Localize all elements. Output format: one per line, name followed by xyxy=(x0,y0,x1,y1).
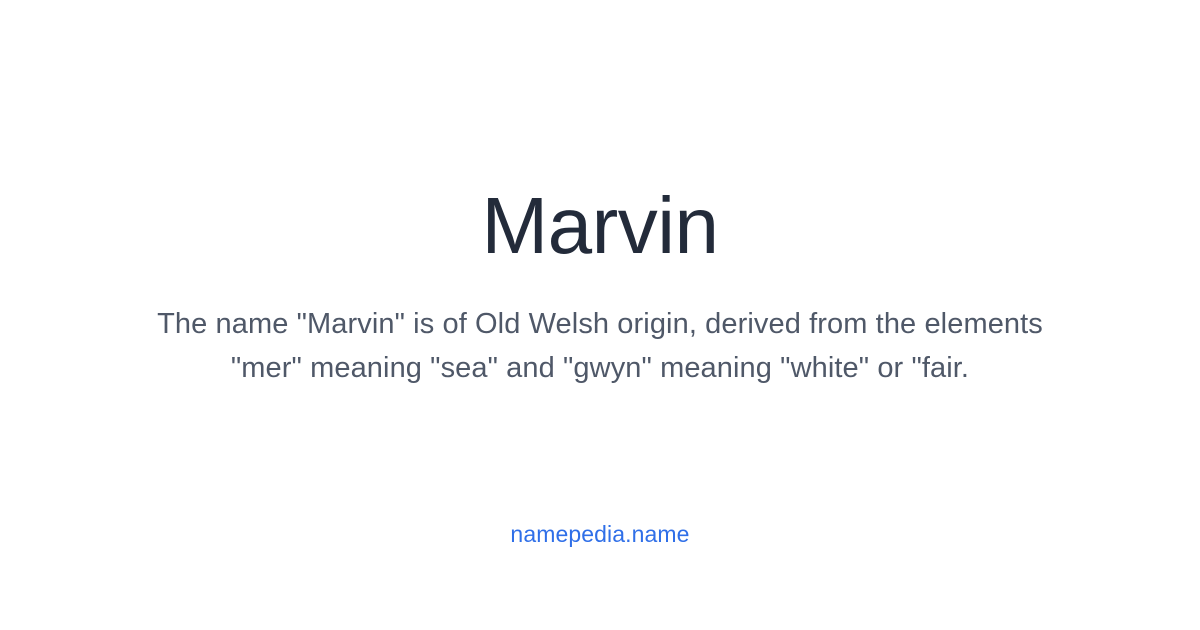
site-footer: namepedia.name xyxy=(0,520,1200,548)
site-link[interactable]: namepedia.name xyxy=(510,520,689,548)
name-description: The name "Marvin" is of Old Welsh origin… xyxy=(150,302,1050,390)
og-preview-card: Marvin The name "Marvin" is of Old Welsh… xyxy=(0,0,1200,630)
page-title: Marvin xyxy=(481,186,718,266)
content-block: Marvin The name "Marvin" is of Old Welsh… xyxy=(0,0,1200,390)
